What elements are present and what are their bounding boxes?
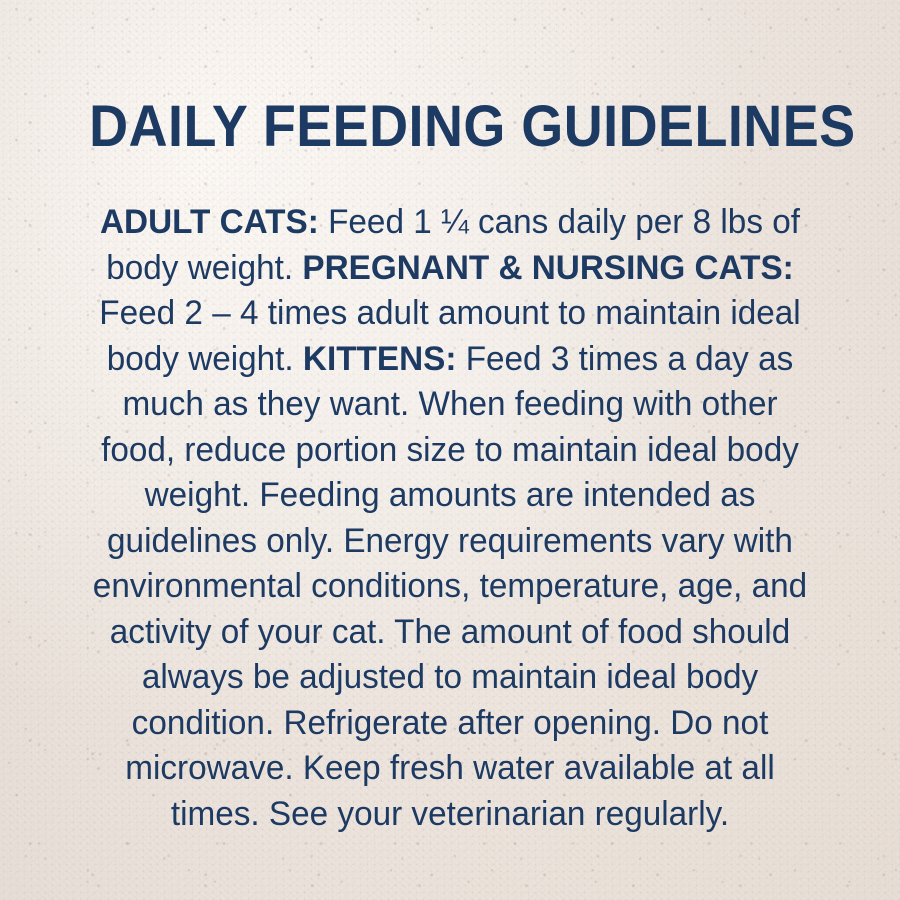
feeding-instructions-paragraph: ADULT CATS: Feed 1 ¼ cans daily per 8 lb…: [83, 156, 816, 837]
pregnant-nursing-cats-lead-in: PREGNANT & NURSING CATS:: [302, 249, 793, 287]
page-title: DAILY FEEDING GUIDELINES: [89, 0, 811, 156]
adult-cats-lead-in: ADULT CATS:: [100, 203, 319, 241]
panel-content: DAILY FEEDING GUIDELINES ADULT CATS: Fee…: [0, 0, 900, 900]
feeding-guidelines-panel: DAILY FEEDING GUIDELINES ADULT CATS: Fee…: [0, 0, 900, 900]
kittens-lead-in: KITTENS:: [303, 340, 457, 378]
kittens-and-general-instructions: Feed 3 times a day as much as they want.…: [93, 340, 807, 833]
